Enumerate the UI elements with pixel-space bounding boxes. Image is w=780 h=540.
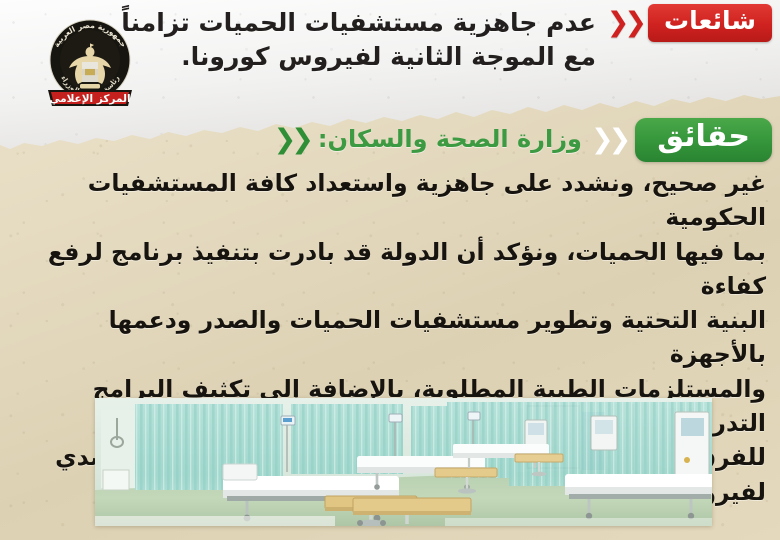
facts-row: حقائق ❮❮ وزارة الصحة والسكان: ❮❮	[274, 118, 772, 162]
rumor-badge-group: شائعات ❮❮	[607, 4, 772, 42]
body-line-1: غير صحيح، ونشدد على جاهزية واستعداد كافة…	[14, 166, 766, 235]
double-chevron-left-icon-green: ❮❮	[274, 126, 309, 153]
rumor-headline: عدم جاهزية مستشفيات الحميات تزامناً مع ا…	[124, 6, 596, 73]
infographic-poster: جمهورية مصر العربية رئاسة مجلس الوزراء ا…	[0, 0, 780, 540]
hospital-ward-photo	[95, 398, 712, 526]
double-chevron-left-icon-white: ❮❮	[591, 126, 626, 153]
svg-text:المركز الإعلامي: المركز الإعلامي	[49, 93, 130, 105]
rumor-headline-line-2: مع الموجة الثانية لفيروس كورونا.	[124, 40, 596, 74]
facts-badge-label: حقائق	[635, 118, 772, 162]
double-chevron-left-icon: ❮❮	[607, 9, 642, 36]
facts-source-label: وزارة الصحة والسكان:	[318, 125, 582, 154]
rumor-headline-line-1: عدم جاهزية مستشفيات الحميات تزامناً	[124, 6, 596, 40]
rumor-badge-label: شائعات	[648, 4, 772, 42]
body-line-2: بما فيها الحميات، ونؤكد أن الدولة قد باد…	[14, 235, 766, 304]
body-line-3: البنية التحتية وتطوير مستشفيات الحميات و…	[14, 303, 766, 372]
